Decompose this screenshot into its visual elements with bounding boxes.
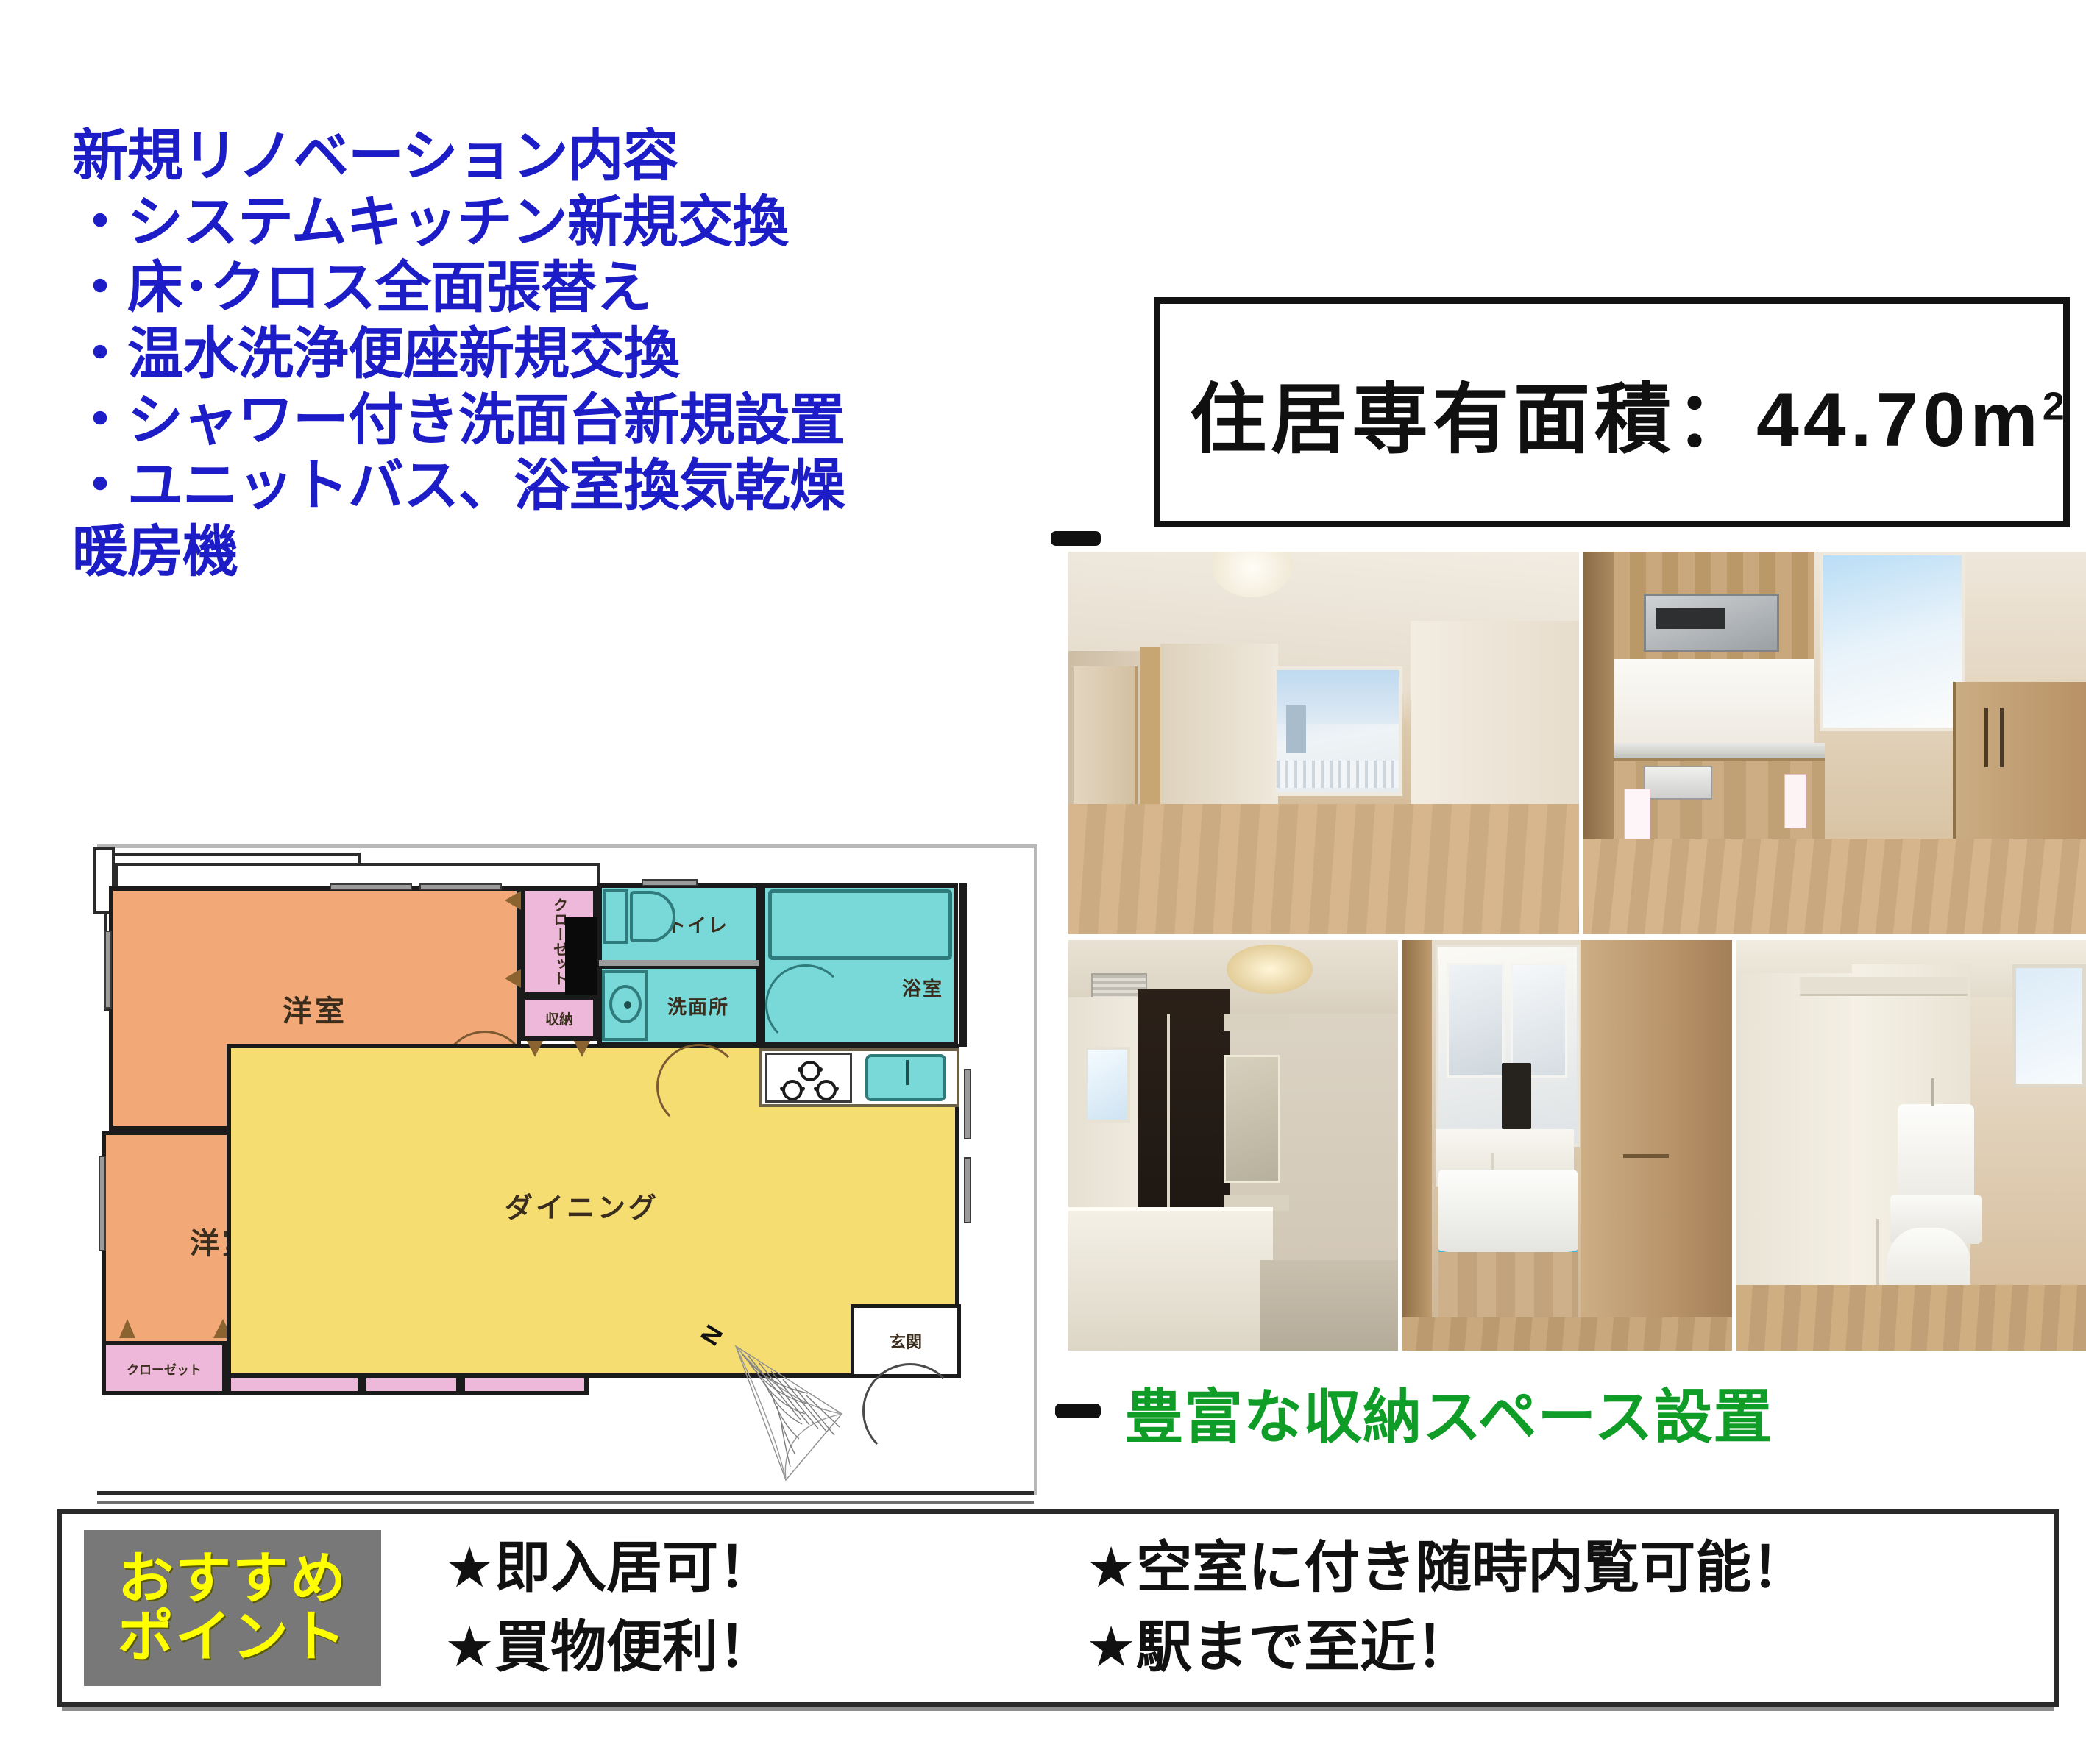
point-item: ★即入居可！: [444, 1529, 774, 1608]
balcony-railing: [1277, 761, 1399, 788]
window-frame: [1820, 552, 1965, 731]
window-opening: [964, 1157, 971, 1223]
range-hood: [1644, 594, 1779, 652]
badge-line-2: ポイント: [118, 1608, 347, 1666]
paper-holder: [1876, 1219, 1879, 1284]
dash-marker-lower: [1055, 1404, 1101, 1418]
window-opening: [104, 931, 112, 1009]
points-column-right: ★空室に付き随時内覧可能！ ★駅まで至近！: [1086, 1529, 1807, 1687]
storage-label: 収納: [545, 1009, 573, 1028]
window-opening: [99, 1156, 106, 1251]
burner-icon: [816, 1080, 837, 1100]
door-frame: [1402, 940, 1432, 1351]
renovation-item-3: ・温水洗浄便座新規交換: [72, 321, 1051, 388]
renovation-text-block: 新規リノベーション内容 ・システムキッチン新規交換 ・床･クロス全面張替え ・温…: [72, 124, 1051, 586]
toilet-photo[interactable]: [1736, 940, 2086, 1351]
bath-mirror: [1224, 1055, 1281, 1182]
washstand-photo[interactable]: [1402, 940, 1732, 1351]
renovation-item-5: ・ユニットバス、浴室換気乾燥: [72, 453, 1051, 519]
building: [1286, 705, 1306, 754]
point-item: ★買物便利！: [444, 1608, 774, 1687]
area-info-box: 住居専有面積：44.70m2: [1154, 297, 2070, 527]
recommended-points-box: おすすめ ポイント ★即入居可！ ★買物便利！ ★空室に付き随時内覧可能！ ★駅…: [57, 1509, 2059, 1707]
wood-floor: [1583, 839, 2086, 934]
toilet-tank: [1898, 1104, 1974, 1203]
point-item: ★空室に付き随時内覧可能！: [1086, 1529, 1807, 1608]
exterior-wall: [959, 883, 967, 1047]
wood-floor: [1068, 804, 1579, 934]
area-value-text: 住居専有面積：44.70m: [1190, 377, 2043, 463]
toilet-window: [2012, 964, 2086, 1087]
overhead-shelf: [1800, 977, 1968, 995]
area-label: 住居専有面積：44.70m2: [1160, 357, 2065, 468]
burner-icon: [782, 1080, 803, 1100]
square-meter-superscript: 2: [2043, 384, 2065, 428]
kitchen-sink: [865, 1054, 946, 1101]
photo-row-top: [1068, 552, 2086, 934]
living-room-photo[interactable]: [1068, 552, 1579, 934]
compass-arrow-icon: [698, 1317, 911, 1493]
renovation-title: 新規リノベーション内容: [72, 124, 1051, 190]
toilet-label: トイレ: [667, 911, 728, 938]
closet-cell-1[interactable]: クローゼット: [102, 1341, 227, 1395]
bathtub: [1068, 1207, 1273, 1351]
left-wall: [1736, 973, 1855, 1285]
compass-north-arrow: N: [698, 1317, 911, 1493]
toilet-tank-icon: [603, 889, 628, 944]
unit-bath-photo[interactable]: [1068, 940, 1398, 1351]
burner-icon: [800, 1061, 820, 1081]
bath-light-icon: [1227, 945, 1313, 994]
renovation-item-6: 暖房機: [72, 519, 1051, 586]
wash-basin: [1438, 1170, 1577, 1262]
window: [1273, 666, 1403, 796]
bathroom-door-arc: [765, 964, 846, 1045]
window-opening: [964, 1069, 971, 1139]
spec-tag: [1784, 774, 1806, 829]
point-item: ★駅まで至近！: [1086, 1608, 1807, 1687]
shower-hose: [1167, 1014, 1170, 1219]
storage-door-mark: [527, 1041, 543, 1057]
wood-floor: [1736, 1285, 2086, 1351]
closet-label: クローゼット: [127, 1359, 202, 1378]
box-shadow-line: [62, 1707, 2054, 1711]
storage-space-caption: 豊富な収納スペース設置: [1124, 1370, 2007, 1455]
toilet-window: [642, 879, 698, 886]
bath-floor: [1260, 1260, 1398, 1351]
mirror-panel: [1447, 963, 1504, 1078]
room-label: 洋室: [283, 987, 347, 1030]
kitchen-photo[interactable]: [1583, 552, 2086, 934]
shelf: [1224, 1014, 1290, 1030]
control-panel: [1644, 766, 1712, 800]
photo-row-bottom: [1068, 940, 2086, 1351]
kitchen-stove: [765, 1053, 852, 1103]
storage-door-mark: [574, 1041, 590, 1057]
closet-door-mark: [505, 891, 521, 910]
window-opening: [330, 883, 412, 890]
renovation-item-2: ・床･クロス全面張替え: [72, 255, 1051, 321]
points-column-left: ★即入居可！ ★買物便利！: [444, 1529, 774, 1687]
window-opening: [419, 883, 502, 890]
photo-gallery: [1068, 552, 2086, 1351]
washroom-door-arc: [656, 1044, 742, 1129]
washstand-basin-icon: [609, 985, 642, 1023]
room-storage[interactable]: 収納: [521, 995, 597, 1041]
badge-line-1: おすすめ: [118, 1550, 347, 1608]
closet-door-mark: [119, 1319, 135, 1338]
partition-door: [599, 960, 759, 966]
wood-floor: [1402, 1317, 1732, 1351]
bathroom-label: 浴室: [902, 974, 943, 1001]
renovation-item-4: ・シャワー付き洗面台新規設置: [72, 388, 1051, 454]
plan-bottom-shadow: [97, 1501, 1034, 1504]
wood-door-panel: [1581, 940, 1732, 1322]
dark-reflection: [1502, 1063, 1531, 1128]
recommended-badge: おすすめ ポイント: [84, 1530, 381, 1686]
renovation-item-1: ・システムキッチン新規交換: [72, 190, 1051, 256]
closet-door-mark: [505, 969, 521, 988]
dining-label: ダイニング: [505, 1185, 659, 1226]
dash-marker-left: [1051, 531, 1101, 546]
bathtub-icon: [768, 889, 952, 960]
mirror-panel: [1511, 963, 1568, 1078]
bath-window: [1085, 1047, 1130, 1123]
washroom-label: 洗面所: [667, 992, 729, 1020]
